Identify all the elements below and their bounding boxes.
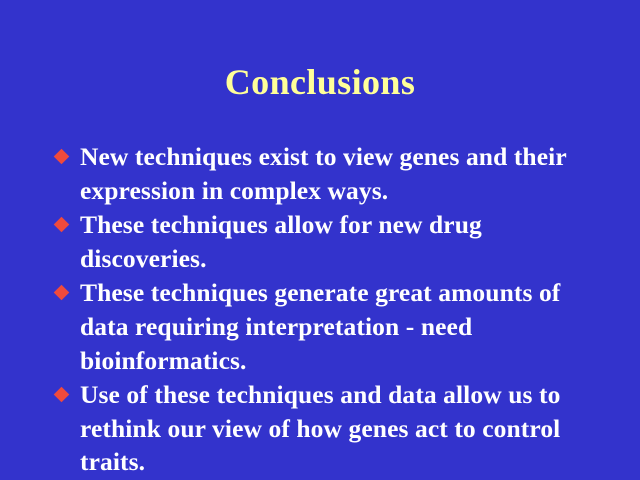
list-item: New techniques exist to view genes and t…	[52, 140, 612, 207]
list-item: These techniques allow for new drug disc…	[52, 208, 612, 275]
list-item-label: These techniques generate great amounts …	[80, 276, 612, 377]
list-item: These techniques generate great amounts …	[52, 276, 612, 377]
list-item-label: New techniques exist to view genes and t…	[80, 140, 612, 207]
diamond-bullet-icon	[54, 387, 70, 403]
list-item-label: These techniques allow for new drug disc…	[80, 208, 612, 275]
page-title: Conclusions	[0, 62, 640, 102]
bullet-list: New techniques exist to view genes and t…	[52, 140, 612, 480]
diamond-bullet-icon	[54, 285, 70, 301]
presentation-slide: Conclusions New techniques exist to view…	[0, 0, 640, 480]
diamond-bullet-icon	[54, 217, 70, 233]
list-item-label: Use of these techniques and data allow u…	[80, 378, 612, 479]
list-item: Use of these techniques and data allow u…	[52, 378, 612, 479]
diamond-bullet-icon	[54, 149, 70, 165]
